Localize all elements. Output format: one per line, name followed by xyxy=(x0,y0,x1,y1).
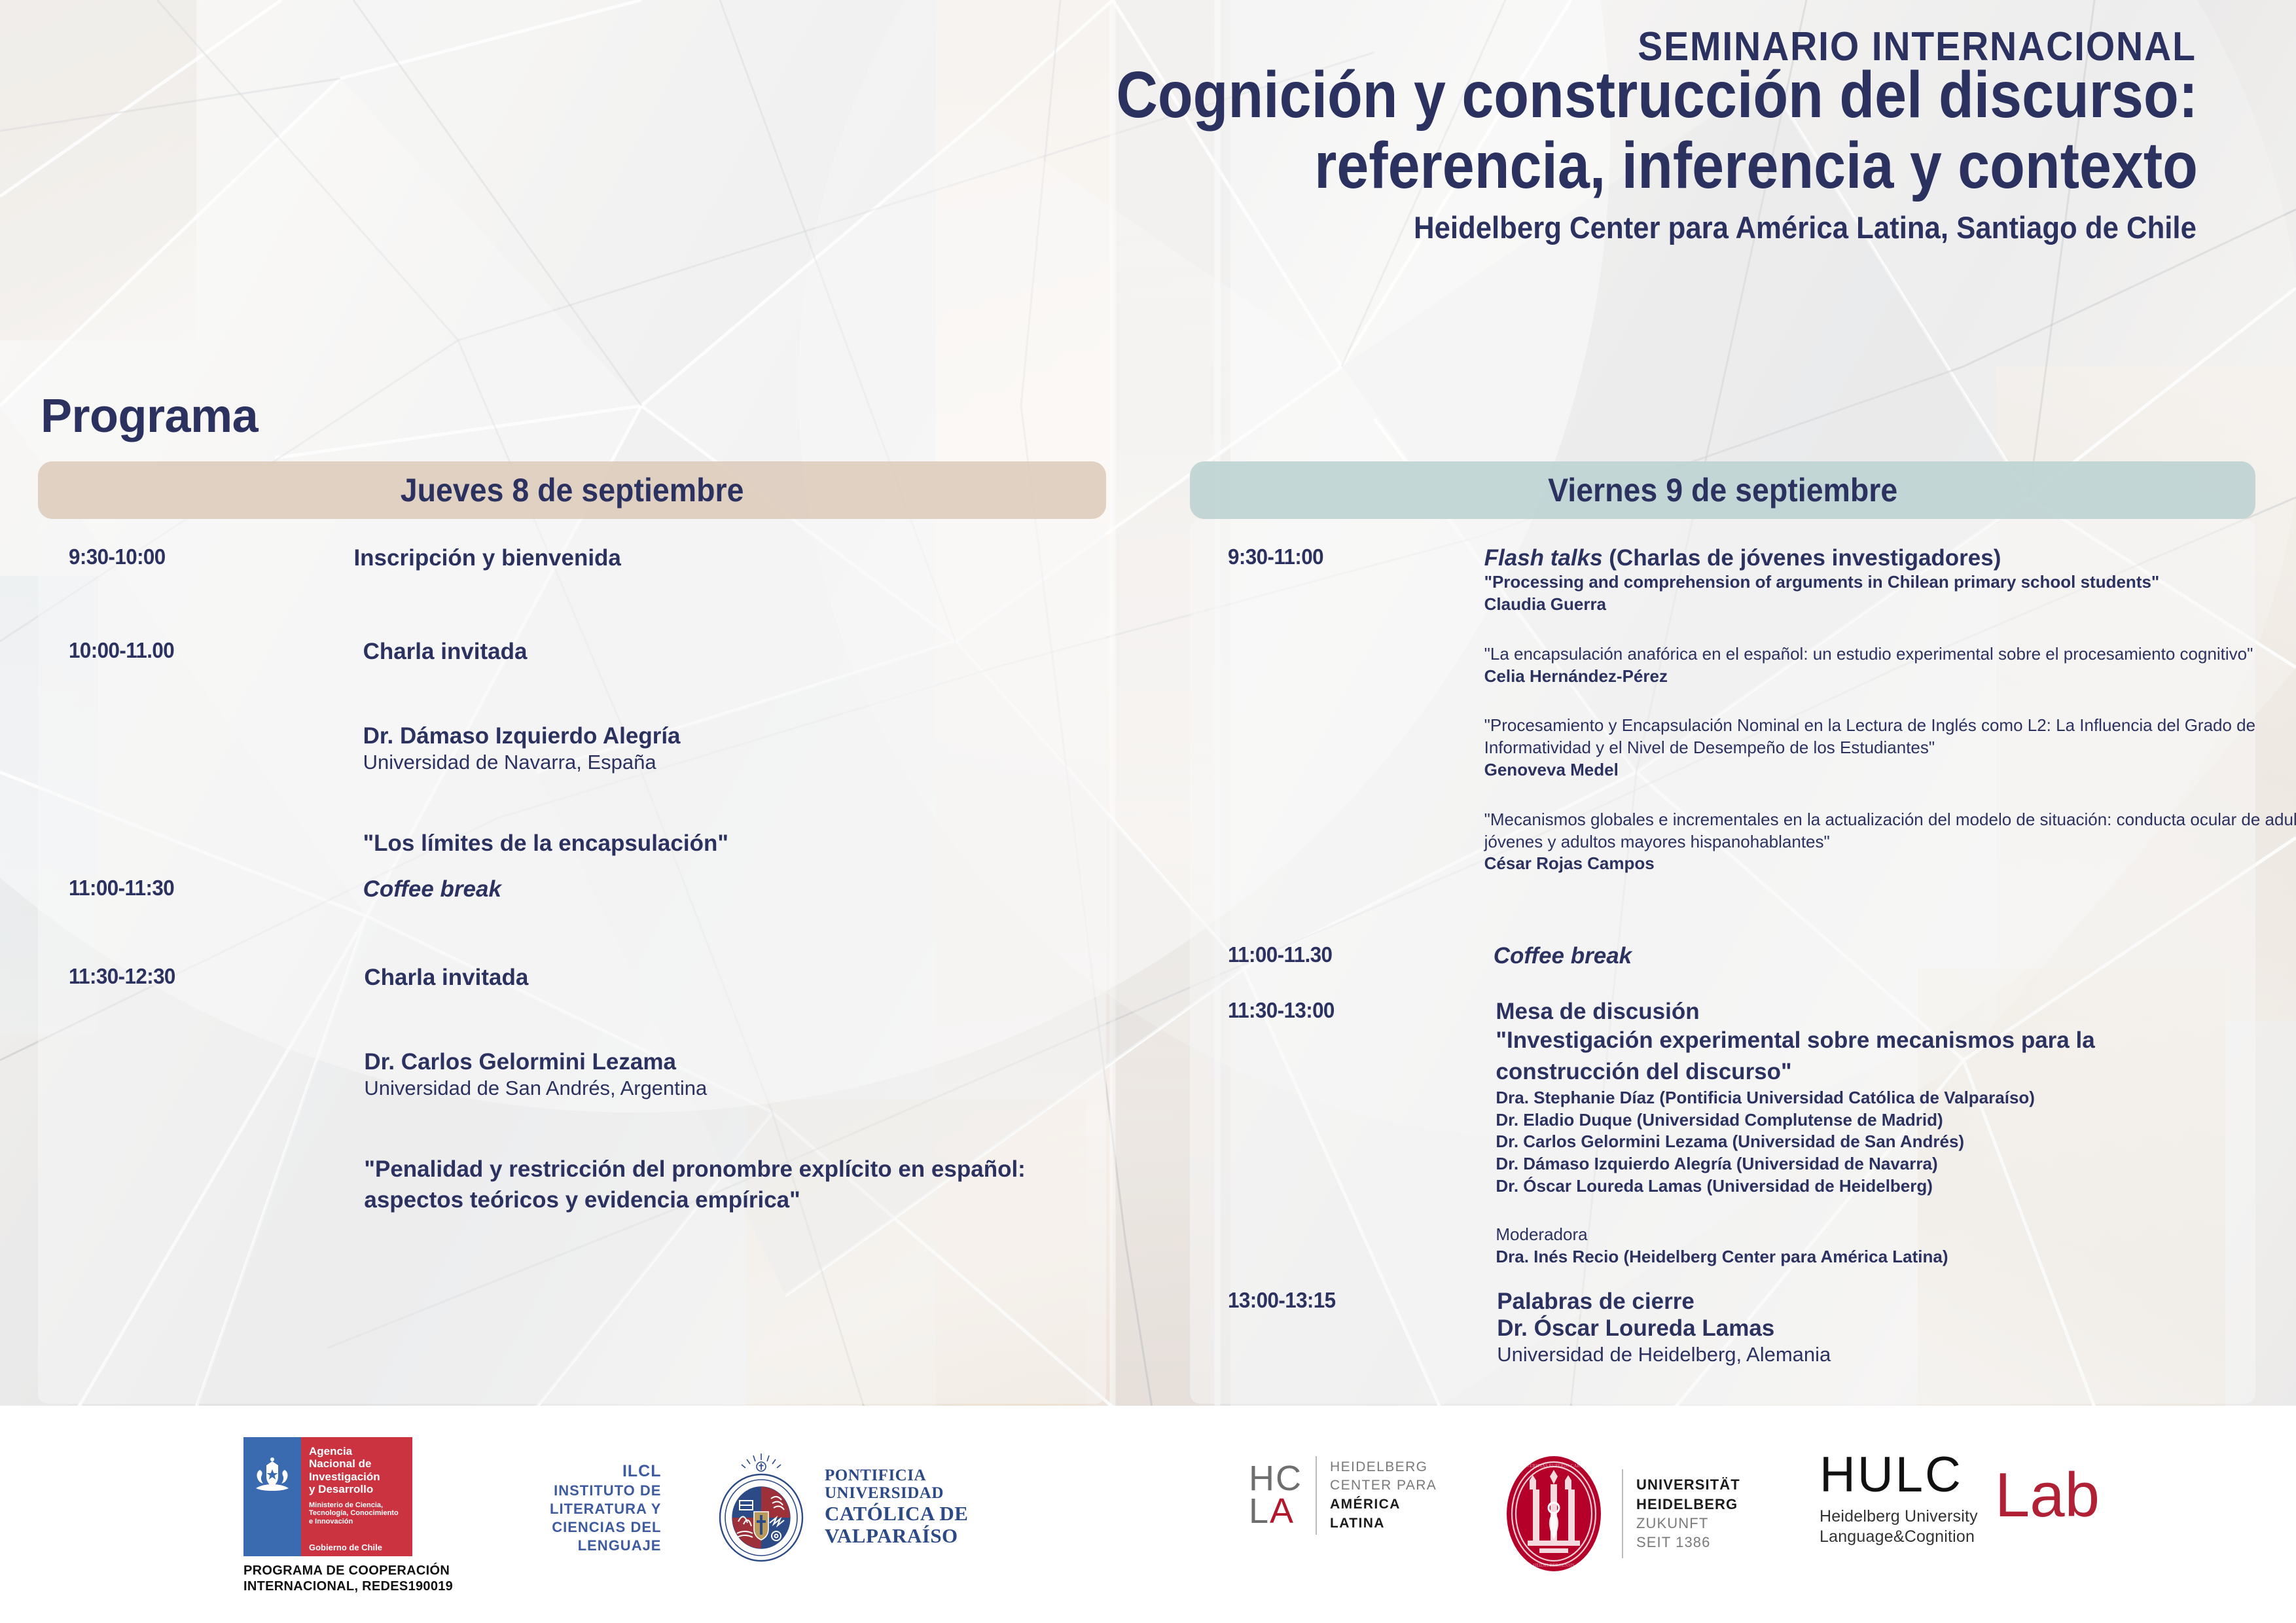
logo-ilcl: ILCL INSTITUTO DE LITERATURA Y CIENCIAS … xyxy=(550,1461,661,1556)
hcla-a: A xyxy=(1270,1491,1295,1531)
hcla-wordmark: HC LA xyxy=(1249,1463,1302,1527)
schedule-row: 9:30-11:00 Flash talks (Charlas de jóven… xyxy=(1228,544,2296,875)
pucv-line-2: UNIVERSIDAD xyxy=(825,1484,968,1503)
hcla-hc: HC xyxy=(1249,1463,1302,1495)
talk-author: Genoveva Medel xyxy=(1484,759,2296,781)
hulc-wordmark: HULC xyxy=(1820,1453,1978,1497)
anid-ministry-line-1: Ministerio de Ciencia, xyxy=(309,1501,406,1510)
session-label: Charla invitada xyxy=(364,964,1025,991)
day-column-thursday: Jueves 8 de septiembre xyxy=(38,461,1106,519)
session-label: Inscripción y bienvenida xyxy=(353,544,620,571)
anid-line-1: Agencia xyxy=(309,1445,406,1457)
pucv-line-1: PONTIFICIA xyxy=(825,1467,968,1485)
session-affiliation: Universidad de Heidelberg, Alemania xyxy=(1497,1342,1831,1366)
uhd-line-4: SEIT 1386 xyxy=(1636,1533,1740,1552)
hcla-line-1: HEIDELBERG xyxy=(1330,1458,1437,1477)
talk-author: Celia Hernández-Pérez xyxy=(1484,666,2296,688)
pucv-line-4: VALPARAÍSO xyxy=(825,1525,968,1547)
poster-root: SEMINARIO INTERNACIONAL Cognición y cons… xyxy=(0,0,2296,1623)
svg-text:UNIVERSITAS RUPERTO CAROLA: UNIVERSITAS RUPERTO CAROLA xyxy=(1518,1463,1590,1469)
flash-talks-italic: Flash talks xyxy=(1484,545,1603,571)
anid-line-3: Investigación xyxy=(309,1471,406,1483)
ilcl-line-2: LITERATURA Y xyxy=(550,1500,661,1518)
session-label: Coffee break xyxy=(363,876,501,902)
talk-title: "Procesamiento y Encapsulación Nominal e… xyxy=(1484,715,2296,759)
session-label: Charla invitada xyxy=(363,638,728,665)
session-speaker: Dr. Óscar Loureda Lamas xyxy=(1497,1315,1831,1342)
session-time: 11:30-13:00 xyxy=(1228,998,1335,1268)
hcla-line-2: CENTER PARA xyxy=(1330,1476,1437,1495)
venue-line: Heidelberg Center para América Latina, S… xyxy=(1414,209,2197,245)
schedule-row: 10:00-11.00 Charla invitada Dr. Dámaso I… xyxy=(69,638,728,859)
schedule-row: 11:30-12:30 Charla invitada Dr. Carlos G… xyxy=(69,964,1026,1215)
schedule-row: 13:00-13:15 Palabras de cierre Dr. Óscar… xyxy=(1228,1288,1831,1366)
session-talk-title: "Los límites de la encapsulación" xyxy=(363,828,728,859)
session-affiliation: Universidad de Navarra, España xyxy=(363,750,728,774)
session-time: 11:00-11:30 xyxy=(69,876,174,902)
divider xyxy=(1622,1469,1623,1558)
panelist: Dr. Carlos Gelormini Lezama (Universidad… xyxy=(1496,1131,2296,1153)
anid-ministry-line-3: e Innovación xyxy=(309,1518,406,1526)
crest-icon xyxy=(252,1457,293,1495)
ilcl-acronym: ILCL xyxy=(550,1461,661,1482)
session-talk-title-line-1: "Penalidad y restricción del pronombre e… xyxy=(364,1154,1025,1185)
uhd-line-2: HEIDELBERG xyxy=(1636,1495,1740,1514)
hcla-l: L xyxy=(1249,1491,1270,1531)
panelist: Dr. Óscar Loureda Lamas (Universidad de … xyxy=(1496,1175,2296,1198)
session-time: 11:30-12:30 xyxy=(69,964,175,1215)
talk-author: César Rojas Campos xyxy=(1484,853,2296,875)
moderator-name: Dra. Inés Recio (Heidelberg Center para … xyxy=(1496,1246,2296,1268)
talk-author: Claudia Guerra xyxy=(1484,594,2296,616)
poster-title-line-1: Cognición y construcción del discurso: xyxy=(1116,60,2198,130)
panel-title-line-2: construcción del discurso" xyxy=(1496,1056,2296,1087)
anid-ministry-line-2: Tecnología, Conocimiento xyxy=(309,1509,406,1518)
panelist: Dr. Dámaso Izquierdo Alegría (Universida… xyxy=(1496,1153,2296,1175)
anid-line-2: Nacional de xyxy=(309,1457,406,1470)
session-time: 10:00-11.00 xyxy=(69,638,174,859)
schedule-row: 11:00-11.30 Coffee break xyxy=(1228,942,1632,969)
hulc-sub-line-1: Heidelberg University xyxy=(1820,1507,1978,1527)
uhd-line-3: ZUKUNFT xyxy=(1636,1514,1740,1533)
session-label: Palabras de cierre xyxy=(1497,1288,1831,1315)
day-header-thursday: Jueves 8 de septiembre xyxy=(38,461,1106,519)
ilcl-line-4: LENGUAJE xyxy=(550,1537,661,1555)
anid-government-line: Gobierno de Chile xyxy=(309,1543,406,1552)
session-speaker: Dr. Dámaso Izquierdo Alegría xyxy=(363,722,728,749)
logo-hcla: HC LA HEIDELBERG CENTER PARA AMÉRICA LAT… xyxy=(1249,1456,1437,1535)
svg-text:HEIDELBERGENSIS: HEIDELBERGENSIS xyxy=(1533,1563,1574,1568)
talk-title: "Mecanismos globales e incrementales en … xyxy=(1484,809,2296,853)
session-time: 13:00-13:15 xyxy=(1228,1288,1336,1366)
anid-caption-line-1: PROGRAMA DE COOPERACIÓN xyxy=(243,1563,453,1578)
program-heading: Programa xyxy=(41,389,258,443)
logo-universitaet-heidelberg: UNIVERSITAS RUPERTO CAROLA HEIDELBERGENS… xyxy=(1499,1452,1740,1576)
schedule-row: 11:30-13:00 Mesa de discusión "Investiga… xyxy=(1228,998,2296,1268)
session-time: 9:30-10:00 xyxy=(69,544,166,571)
heidelberg-seal-icon: UNIVERSITAS RUPERTO CAROLA HEIDELBERGENS… xyxy=(1499,1452,1609,1576)
flash-talks-rest: (Charlas de jóvenes investigadores) xyxy=(1603,545,2001,571)
panelist: Dra. Stephanie Díaz (Pontificia Universi… xyxy=(1496,1087,2296,1109)
day-title-thursday: Jueves 8 de septiembre xyxy=(401,471,744,509)
session-speaker: Dr. Carlos Gelormini Lezama xyxy=(364,1048,1025,1075)
session-time: 9:30-11:00 xyxy=(1228,544,1323,875)
day-header-friday: Viernes 9 de septiembre xyxy=(1190,461,2255,519)
ilcl-line-3: CIENCIAS DEL xyxy=(550,1518,661,1537)
logo-hulc-lab: HULC Heidelberg University Language&Cogn… xyxy=(1820,1453,2100,1547)
session-talk-title-line-2: aspectos teóricos y evidencia empírica" xyxy=(364,1185,1025,1215)
logo-pucv: PONTIFICIA UNIVERSIDAD CATÓLICA DE VALPA… xyxy=(712,1450,968,1564)
hulc-sub-line-2: Language&Cognition xyxy=(1820,1527,1978,1547)
divider xyxy=(1316,1456,1317,1535)
session-label: Flash talks (Charlas de jóvenes investig… xyxy=(1484,544,2296,571)
anid-line-4: y Desarrollo xyxy=(309,1483,406,1495)
talk-title: "Processing and comprehension of argumen… xyxy=(1484,571,2296,594)
pucv-seal-icon xyxy=(712,1450,810,1564)
chile-coat-of-arms-icon xyxy=(243,1437,301,1556)
panelist: Dr. Eladio Duque (Universidad Complutens… xyxy=(1496,1109,2296,1132)
moderator-label: Moderadora xyxy=(1496,1224,2296,1246)
hulc-lab-wordmark: Lab xyxy=(1995,1471,2100,1520)
pucv-line-3: CATÓLICA DE xyxy=(825,1503,968,1525)
hcla-line-3: AMÉRICA xyxy=(1330,1495,1437,1514)
panel-title-line-1: "Investigación experimental sobre mecani… xyxy=(1496,1025,2296,1056)
schedule-row: 11:00-11:30 Coffee break xyxy=(69,876,501,902)
day-column-friday: Viernes 9 de septiembre xyxy=(1190,461,2255,519)
anid-caption-line-2: INTERNACIONAL, REDES190019 xyxy=(243,1578,453,1594)
session-time: 11:00-11.30 xyxy=(1228,942,1332,969)
logo-anid: Agencia Nacional de Investigación y Desa… xyxy=(243,1437,453,1595)
talk-title: "La encapsulación anafórica en el españo… xyxy=(1484,643,2296,666)
session-affiliation: Universidad de San Andrés, Argentina xyxy=(364,1076,1025,1100)
day-title-friday: Viernes 9 de septiembre xyxy=(1548,471,1897,509)
uhd-line-1: UNIVERSITÄT xyxy=(1636,1475,1740,1494)
session-label: Coffee break xyxy=(1494,942,1632,969)
session-label: Mesa de discusión xyxy=(1496,998,2296,1025)
hcla-line-4: LATINA xyxy=(1330,1514,1437,1533)
schedule-row: 9:30-10:00 Inscripción y bienvenida xyxy=(69,544,621,571)
poster-title-line-2: referencia, inferencia y contexto xyxy=(1314,131,2198,200)
ilcl-line-1: INSTITUTO DE xyxy=(550,1482,661,1500)
